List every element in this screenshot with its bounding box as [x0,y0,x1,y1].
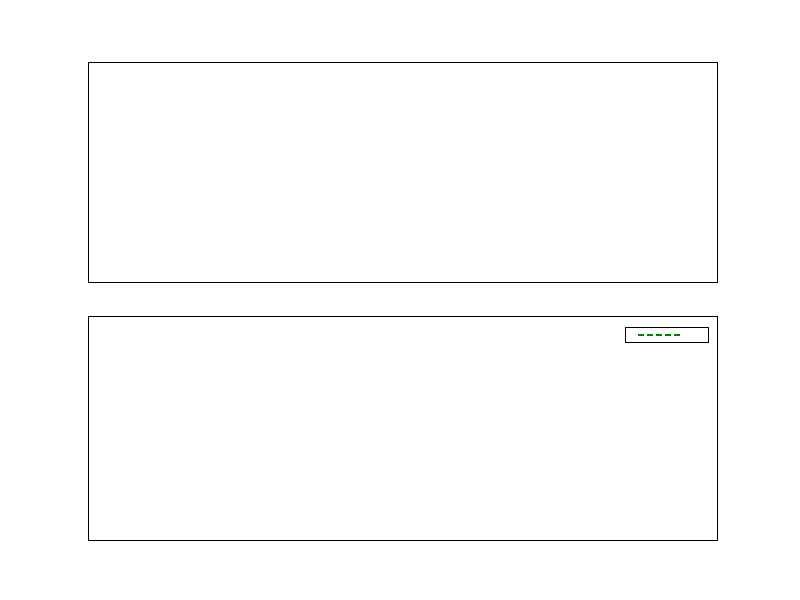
histogram-bars-layer [89,63,719,284]
top-axes-histogram [88,62,718,283]
bottom-axes-cumulative [88,316,718,541]
cumulative-curve-layer [89,317,719,542]
matplotlib-figure [0,0,800,600]
legend[interactable] [625,327,709,343]
mag-limit-line-swatch [638,334,680,336]
